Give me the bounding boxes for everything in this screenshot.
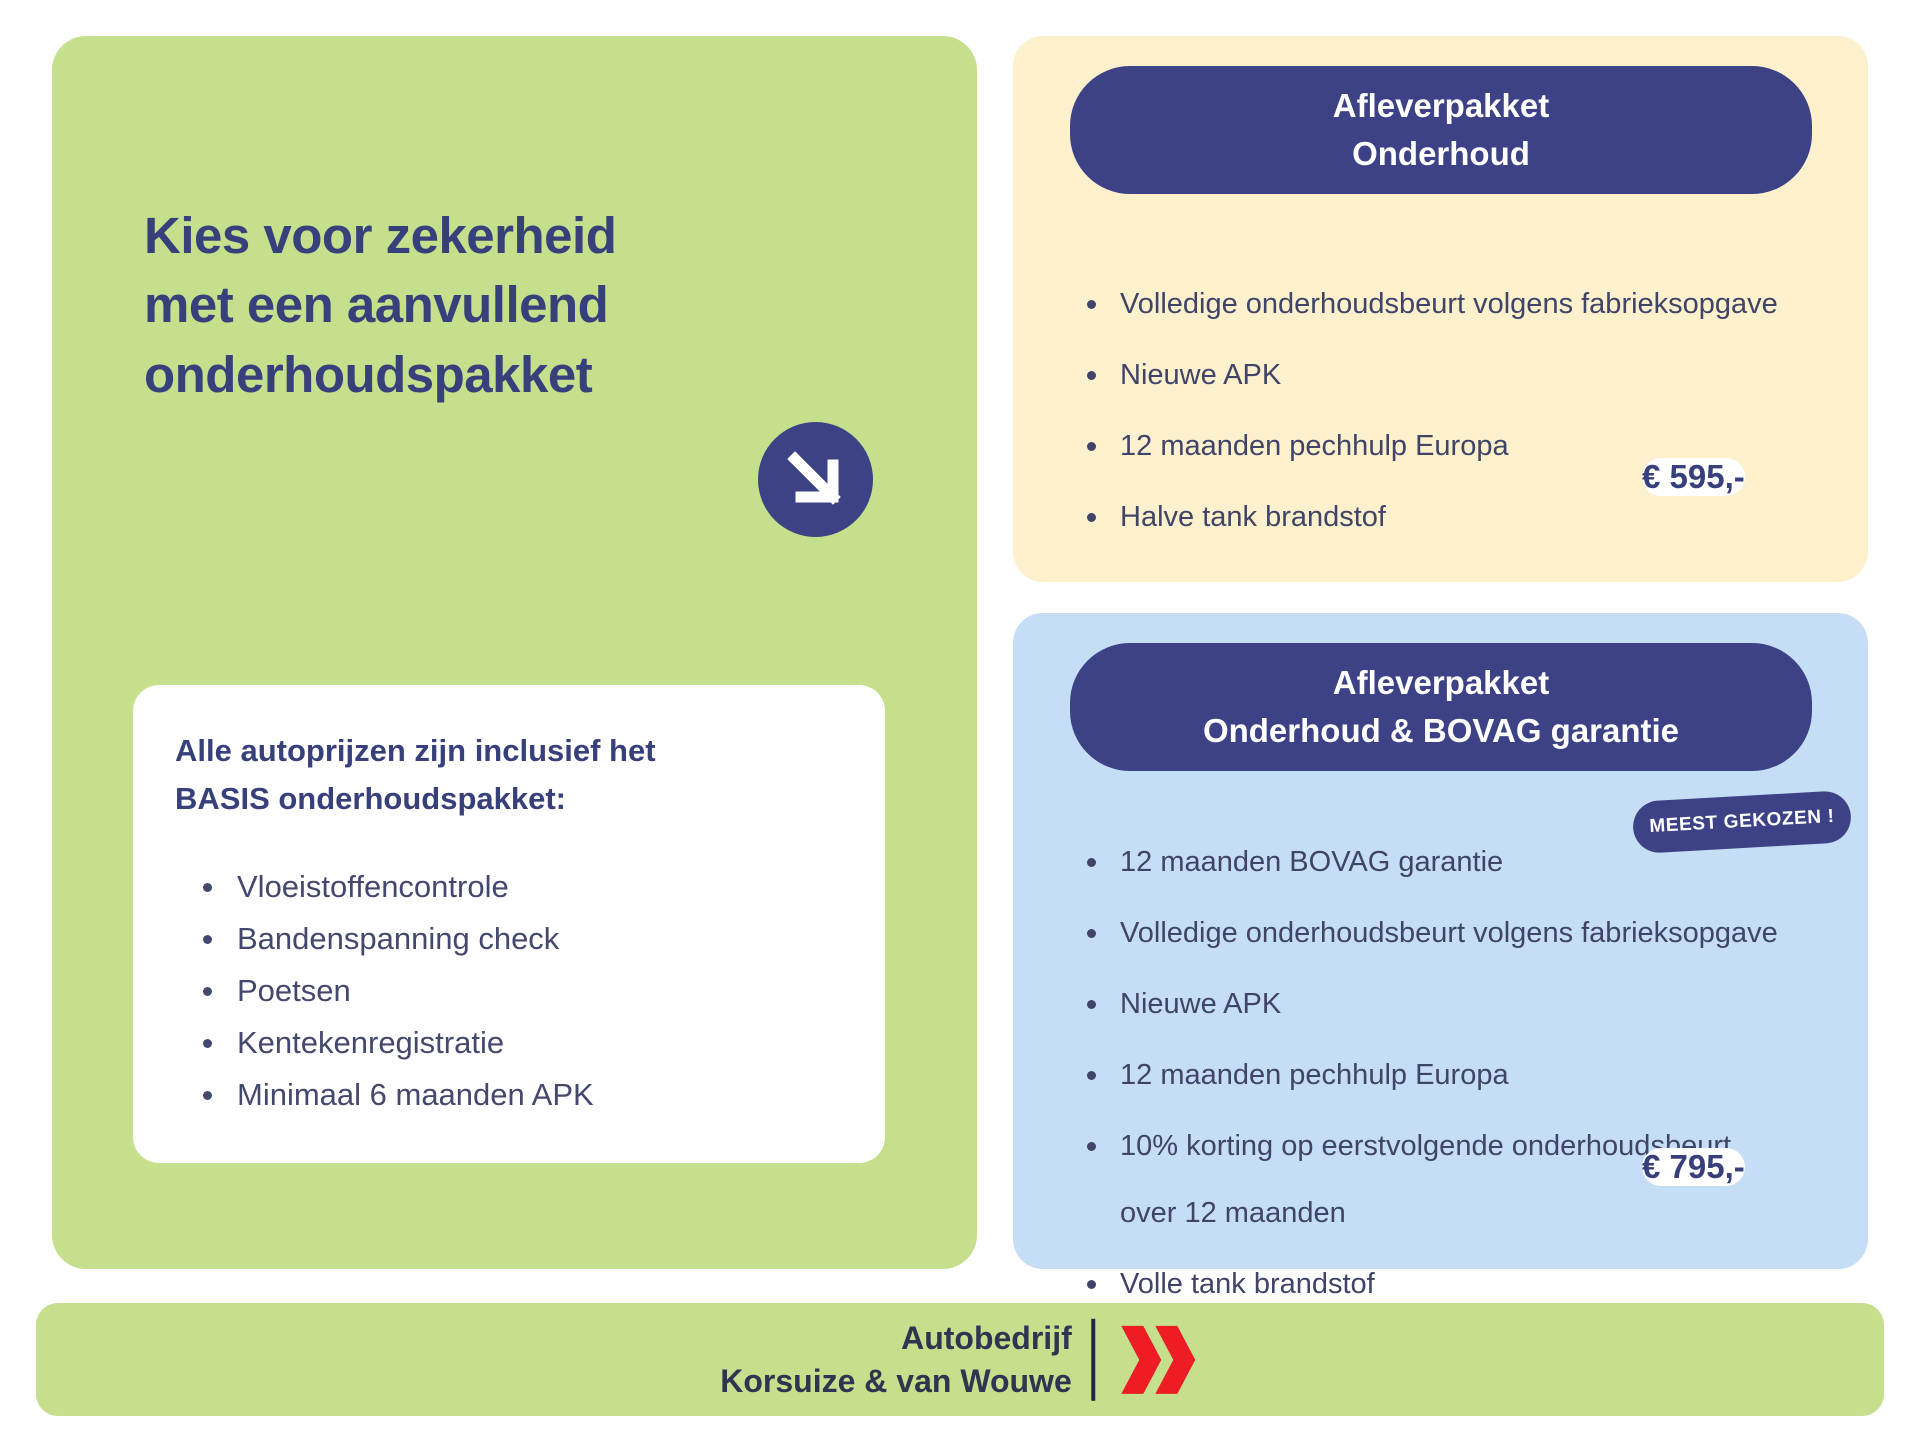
- package-onderhoud-header-line-1: Afleverpakket: [1333, 82, 1549, 130]
- list-item-text: 10% korting op eerstvolgende onderhoudsb…: [1120, 1130, 1731, 1162]
- basis-package-card: Alle autoprijzen zijn inclusief het BASI…: [133, 685, 885, 1163]
- list-item: Volledige onderhoudsbeurt volgens fabrie…: [1075, 911, 1865, 956]
- company-name: Autobedrijf Korsuize & van Wouwe: [720, 1316, 1071, 1402]
- list-item-continuation: over 12 maanden: [1120, 1191, 1865, 1236]
- basis-title-line-2: BASIS onderhoudspakket:: [175, 775, 835, 823]
- price-badge-bovag: € 795,-: [1642, 1148, 1745, 1186]
- list-item: Poetsen: [195, 965, 845, 1017]
- company-logo: Autobedrijf Korsuize & van Wouwe: [720, 1316, 1199, 1402]
- list-item: Volledige onderhoudsbeurt volgens fabrie…: [1075, 282, 1865, 327]
- price-badge-onderhoud: € 595,-: [1642, 458, 1745, 496]
- package-onderhoud-header-line-2: Onderhoud: [1352, 130, 1530, 178]
- double-chevron-right-icon: [1116, 1318, 1200, 1402]
- company-name-line-2: Korsuize & van Wouwe: [720, 1360, 1071, 1403]
- package-onderhoud-header: Afleverpakket Onderhoud: [1070, 66, 1812, 194]
- logo-divider: [1092, 1319, 1096, 1401]
- list-item: 12 maanden pechhulp Europa: [1075, 424, 1865, 469]
- list-item: Vloeistoffencontrole: [195, 861, 845, 913]
- list-item: Bandenspanning check: [195, 913, 845, 965]
- package-bovag-header-line-1: Afleverpakket: [1333, 659, 1549, 707]
- list-item: Nieuwe APK: [1075, 353, 1865, 398]
- hero-heading-line-3: onderhoudspakket: [144, 340, 804, 409]
- footer-bar: Autobedrijf Korsuize & van Wouwe: [36, 1303, 1884, 1416]
- list-item: Kentekenregistratie: [195, 1017, 845, 1069]
- list-item: 12 maanden pechhulp Europa: [1075, 1053, 1865, 1098]
- basis-feature-list: Vloeistoffencontrole Bandenspanning chec…: [195, 861, 845, 1121]
- package-bovag-header: Afleverpakket Onderhoud & BOVAG garantie: [1070, 643, 1812, 771]
- package-bovag-feature-list: 12 maanden BOVAG garantie Volledige onde…: [1075, 840, 1865, 1333]
- infographic-page: Kies voor zekerheid met een aanvullend o…: [0, 0, 1920, 1440]
- hero-heading-line-2: met een aanvullend: [144, 270, 804, 339]
- list-item: Minimaal 6 maanden APK: [195, 1069, 845, 1121]
- package-bovag-header-line-2: Onderhoud & BOVAG garantie: [1203, 707, 1679, 755]
- basis-card-title: Alle autoprijzen zijn inclusief het BASI…: [175, 727, 835, 823]
- company-name-line-1: Autobedrijf: [720, 1316, 1071, 1359]
- arrow-down-right-icon: [758, 422, 873, 537]
- list-item: 10% korting op eerstvolgende onderhoudsb…: [1075, 1124, 1865, 1236]
- hero-heading-line-1: Kies voor zekerheid: [144, 201, 804, 270]
- list-item: Nieuwe APK: [1075, 982, 1865, 1027]
- page-title: Kies voor zekerheid met een aanvullend o…: [144, 201, 804, 409]
- list-item: Volle tank brandstof: [1075, 1262, 1865, 1307]
- basis-title-line-1: Alle autoprijzen zijn inclusief het: [175, 727, 835, 775]
- list-item: Halve tank brandstof: [1075, 495, 1865, 540]
- package-onderhoud-feature-list: Volledige onderhoudsbeurt volgens fabrie…: [1075, 282, 1865, 566]
